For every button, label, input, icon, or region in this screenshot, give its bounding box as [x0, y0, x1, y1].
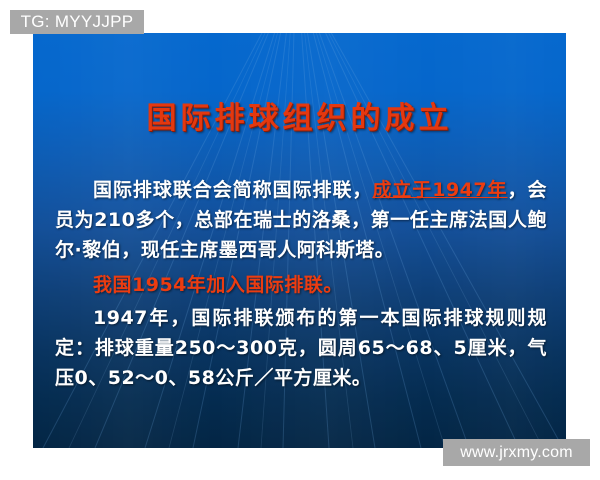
paragraph-3: 1947年，国际排联颁布的第一本国际排球规则规定：排球重量250～300克，圆周… — [55, 303, 547, 393]
watermark-top-left: TG: MYYJJPP — [10, 10, 144, 34]
paragraph-2: 我国1954年加入国际排联。 — [55, 270, 547, 300]
paragraph-1-run-1: 国际排球联合会简称国际排联， — [93, 179, 372, 201]
screenshot-root: 国际排球组织的成立 国际排球联合会简称国际排联，成立于1947年，会员为210多… — [0, 0, 600, 480]
paragraph-1-run-2-highlight: 成立于1947年 — [372, 179, 507, 201]
paragraph-3-run-1: 1947年，国际排联颁布的第一本国际排球规则规定：排球重量250～300克，圆周… — [55, 307, 547, 389]
presentation-slide: 国际排球组织的成立 国际排球联合会简称国际排联，成立于1947年，会员为210多… — [33, 33, 566, 448]
watermark-bottom-right: www.jrxmy.com — [443, 439, 590, 466]
slide-title: 国际排球组织的成立 — [33, 93, 566, 137]
paragraph-2-run-1-highlight: 我国1954年加入国际排联。 — [93, 274, 343, 296]
paragraph-1: 国际排球联合会简称国际排联，成立于1947年，会员为210多个，总部在瑞士的洛桑… — [55, 175, 547, 265]
slide-body: 国际排球联合会简称国际排联，成立于1947年，会员为210多个，总部在瑞士的洛桑… — [55, 175, 547, 395]
